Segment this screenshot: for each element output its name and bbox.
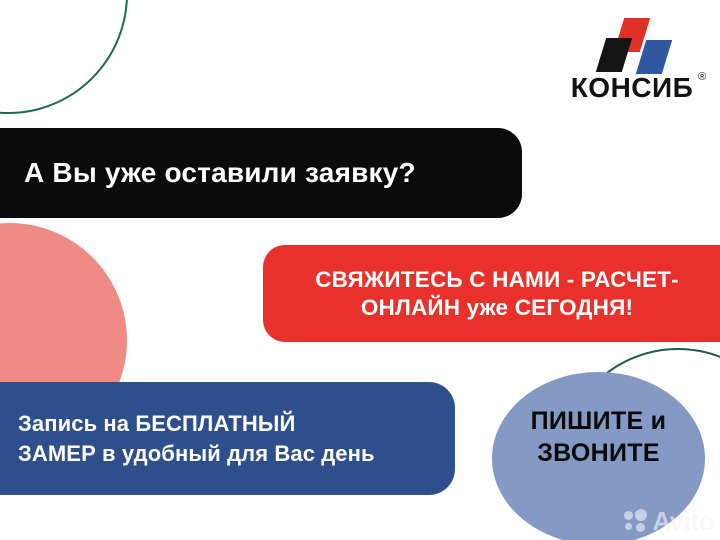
headline-banner-black-text: А Вы уже оставили заявку?: [24, 158, 416, 189]
rhombus-black-icon: [596, 38, 632, 72]
offer-banner-blue: Запись на БЕСПЛАТНЫЙ ЗАМЕР в удобный для…: [0, 382, 455, 495]
cta-red-line1: СВЯЖИТЕСЬ С НАМИ - РАСЧЕТ-: [315, 267, 679, 292]
registered-trademark-icon: ®: [698, 71, 706, 83]
contact-caption: ПИШИТЕ и ЗВОНИТЕ: [492, 405, 705, 469]
contact-caption-line2: ЗВОНИТЕ: [537, 439, 660, 467]
promo-poster: КОНСИБ ® А Вы уже оставили заявку? СВЯЖИ…: [0, 0, 720, 540]
cta-red-line2-light: уже: [460, 295, 514, 320]
avito-watermark: Avito: [624, 508, 714, 534]
logo-mark-icon: [585, 18, 679, 70]
cta-red-line2-strong-b: СЕГОДНЯ!: [515, 295, 633, 320]
cta-banner-red-text: СВЯЖИТЕСЬ С НАМИ - РАСЧЕТ- ОНЛАЙН уже СЕ…: [285, 266, 709, 321]
cta-red-line2-strong-a: ОНЛАЙН: [361, 295, 460, 320]
logo-wordmark: КОНСИБ: [571, 72, 694, 103]
headline-banner-black: А Вы уже оставили заявку?: [0, 128, 522, 218]
avito-watermark-text: Avito: [652, 508, 714, 534]
avito-dots-icon: [624, 509, 650, 533]
offer-banner-blue-text: Запись на БЕСПЛАТНЫЙ ЗАМЕР в удобный для…: [18, 409, 375, 468]
cta-banner-red: СВЯЖИТЕСЬ С НАМИ - РАСЧЕТ- ОНЛАЙН уже СЕ…: [263, 245, 720, 342]
offer-blue-line1: Запись на БЕСПЛАТНЫЙ: [18, 411, 295, 436]
contact-caption-line1: ПИШИТЕ и: [531, 407, 667, 435]
logo-wordmark-row: КОНСИБ ®: [571, 74, 694, 102]
decor-ring-top-left: [0, 0, 128, 114]
offer-blue-line2: ЗАМЕР в удобный для Вас день: [18, 441, 375, 466]
brand-logo: КОНСИБ ®: [558, 18, 706, 102]
